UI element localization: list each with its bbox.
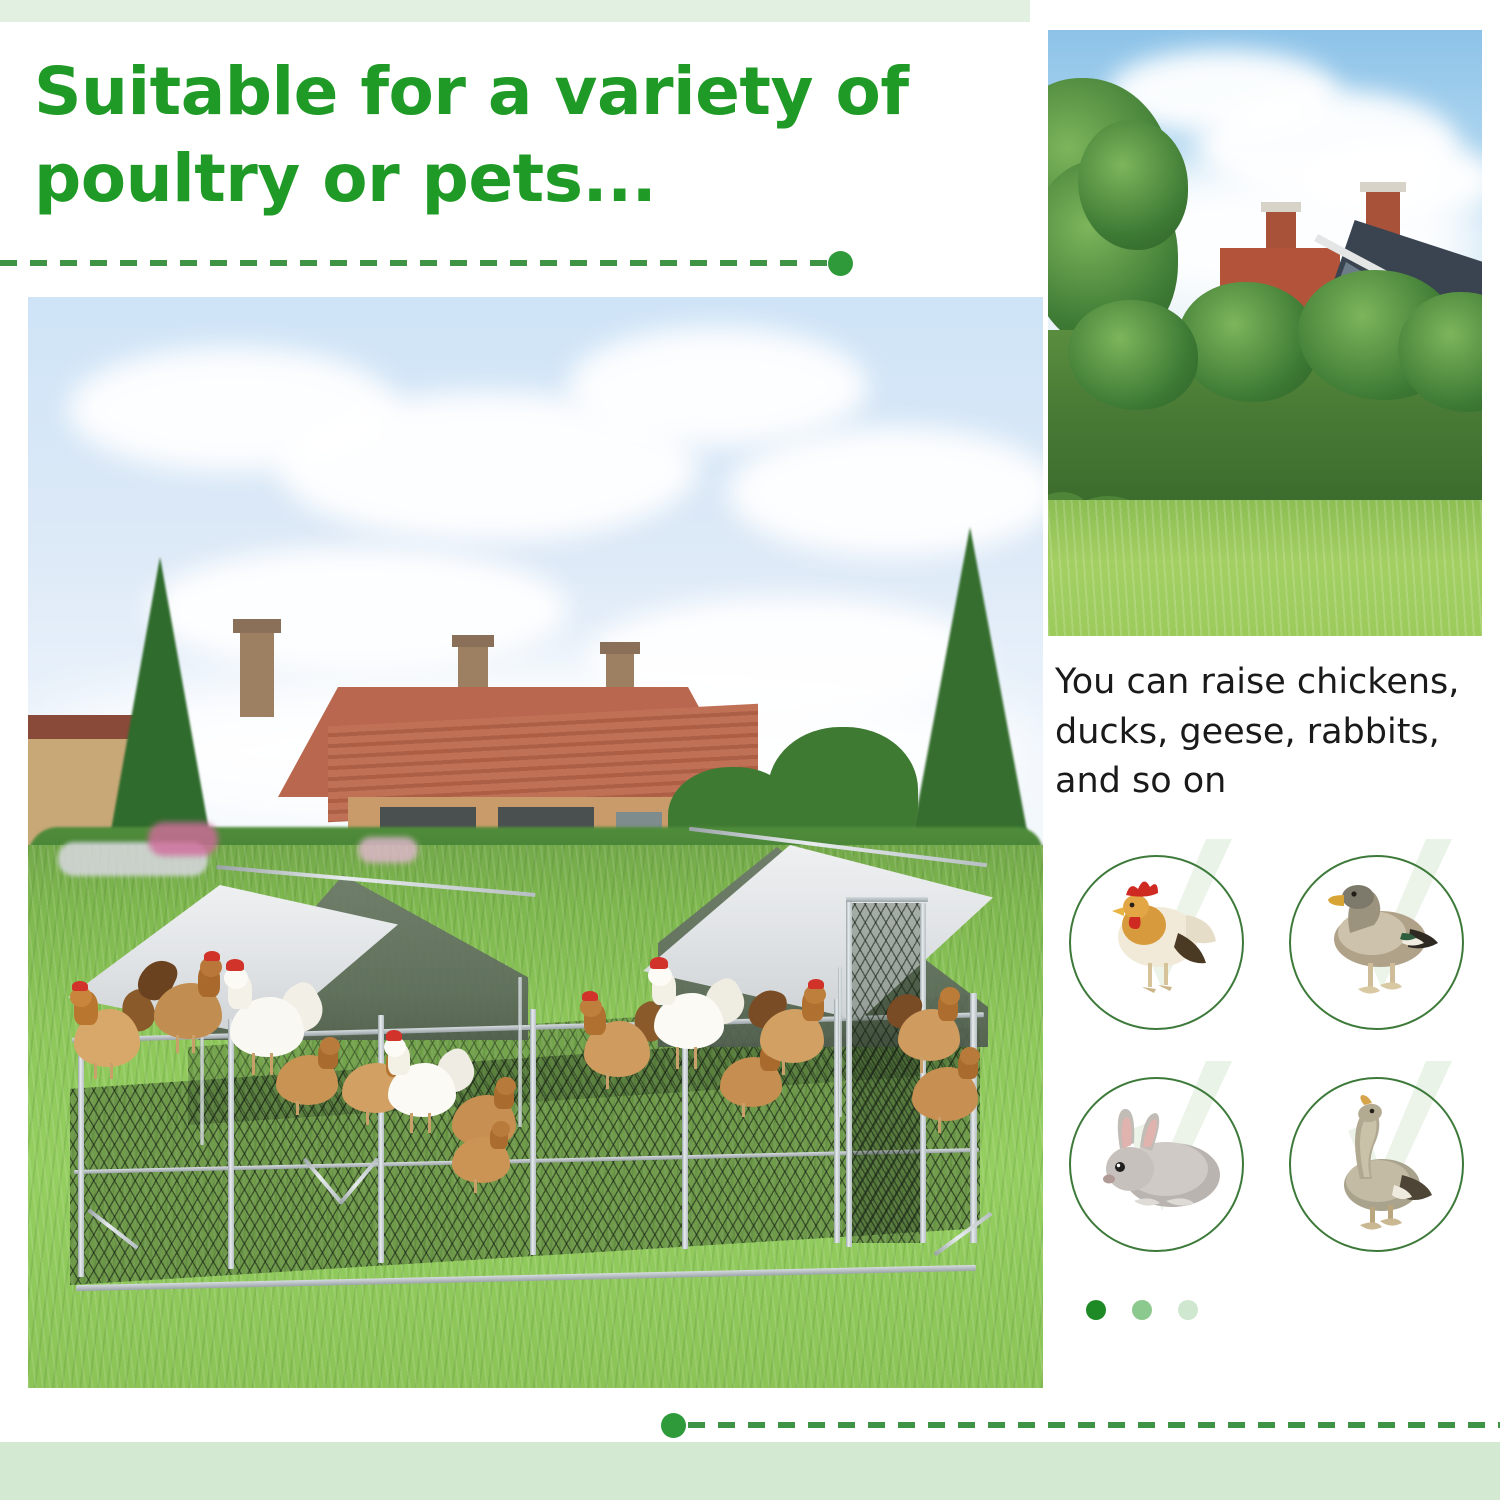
animal-cell-chicken[interactable] bbox=[1064, 845, 1259, 1040]
chimney bbox=[240, 627, 274, 717]
chicken-comb bbox=[808, 979, 824, 989]
chicken-leg bbox=[606, 1073, 609, 1089]
chicken-leg bbox=[176, 1035, 179, 1053]
chicken-leg bbox=[428, 1113, 431, 1133]
chicken-head bbox=[940, 987, 960, 1005]
divider-dot-top bbox=[828, 251, 853, 276]
chicken-head bbox=[492, 1121, 510, 1137]
chicken-leg bbox=[252, 1053, 255, 1075]
chicken-leg bbox=[192, 1035, 195, 1053]
hero-photo bbox=[28, 297, 1043, 1388]
chicken-leg bbox=[94, 1063, 97, 1079]
page-title-line-2: poultry or pets... bbox=[34, 135, 984, 222]
door-frame-top bbox=[846, 897, 928, 902]
chimney bbox=[452, 635, 494, 647]
chicken-comb bbox=[226, 959, 244, 971]
chimney-cap bbox=[1261, 202, 1301, 212]
chicken bbox=[746, 985, 838, 1077]
chicken-leg bbox=[742, 1103, 745, 1117]
rear-post bbox=[838, 967, 842, 1117]
top-accent-band bbox=[0, 0, 1030, 22]
bottom-accent-band bbox=[0, 1442, 1500, 1500]
chicken-leg bbox=[676, 1047, 679, 1069]
chicken-leg bbox=[474, 1179, 477, 1193]
chicken-leg bbox=[110, 1063, 113, 1079]
caption-line-1: You can raise chickens, bbox=[1055, 658, 1485, 708]
chicken-leg bbox=[782, 1059, 785, 1075]
carousel-dots[interactable] bbox=[1086, 1300, 1198, 1320]
cloud-shape bbox=[568, 327, 868, 447]
divider-dashed-top bbox=[0, 260, 836, 266]
lawn bbox=[1048, 500, 1482, 636]
chimney bbox=[600, 642, 640, 654]
animal-cell-rabbit[interactable] bbox=[1064, 1067, 1259, 1262]
chicken-comb bbox=[650, 957, 668, 969]
chicken-comb bbox=[386, 1030, 402, 1041]
page-title-line-1: Suitable for a variety of bbox=[34, 53, 909, 130]
feature-caption: You can raise chickens, ducks, geese, ra… bbox=[1055, 658, 1485, 807]
chicken bbox=[904, 1047, 994, 1133]
goose-icon bbox=[1306, 1089, 1456, 1239]
ridge-pole bbox=[216, 865, 535, 897]
carousel-dot-3[interactable] bbox=[1178, 1300, 1198, 1320]
chicken-comb bbox=[72, 981, 88, 991]
chicken-leg bbox=[296, 1101, 299, 1115]
divider-dot-bottom bbox=[661, 1413, 686, 1438]
chimney bbox=[233, 619, 281, 633]
page-title: Suitable for a variety of poultry or pet… bbox=[34, 48, 984, 222]
chicken bbox=[446, 1123, 524, 1195]
duck-icon bbox=[1306, 867, 1456, 1017]
lawn-texture bbox=[1048, 500, 1482, 636]
garden-photo bbox=[1048, 30, 1482, 636]
animal-cell-duck[interactable] bbox=[1284, 845, 1479, 1040]
chicken-leg bbox=[938, 1117, 941, 1133]
caption-line-3: and so on bbox=[1055, 757, 1485, 807]
chicken-head bbox=[960, 1047, 980, 1065]
carousel-dot-1[interactable] bbox=[1086, 1300, 1106, 1320]
rabbit-icon bbox=[1086, 1089, 1236, 1239]
chimney-cap bbox=[1360, 182, 1406, 192]
suitable-animals-grid bbox=[1062, 845, 1482, 1270]
animal-cell-goose[interactable] bbox=[1284, 1067, 1479, 1262]
chicken-leg bbox=[366, 1109, 369, 1125]
chicken-comb bbox=[582, 991, 598, 1001]
rooster-icon bbox=[1086, 867, 1236, 1017]
product-feature-page: Suitable for a variety of poultry or pet… bbox=[0, 0, 1500, 1500]
chicken-leg bbox=[694, 1047, 697, 1069]
chicken-leg bbox=[410, 1113, 413, 1133]
chicken-head bbox=[496, 1077, 516, 1095]
caption-line-2: ducks, geese, rabbits, bbox=[1055, 708, 1485, 758]
carousel-dot-2[interactable] bbox=[1132, 1300, 1152, 1320]
chicken-comb bbox=[204, 951, 220, 961]
divider-dashed-bottom bbox=[688, 1422, 1500, 1428]
